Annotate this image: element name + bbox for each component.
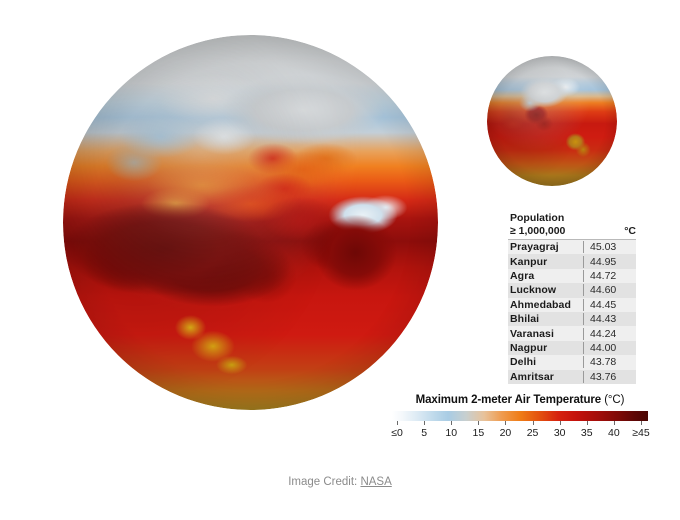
legend-tick [614, 421, 615, 425]
table-row: Bhilai44.43 [508, 312, 636, 326]
table-cell-city: Nagpur [508, 342, 583, 354]
legend-tick [397, 421, 398, 425]
legend-tick [451, 421, 452, 425]
legend-tick-label: 25 [527, 427, 539, 439]
legend-tick-label: 15 [472, 427, 484, 439]
table-cell-temperature: 44.95 [583, 256, 636, 268]
table-cell-city: Ahmedabad [508, 299, 583, 311]
table-body: Prayagraj45.03Kanpur44.95Agra44.72Luckno… [508, 239, 636, 384]
legend-tick [424, 421, 425, 425]
legend-title-text: Maximum 2-meter Air Temperature [416, 394, 601, 406]
table-cell-city: Varanasi [508, 328, 583, 340]
legend-tick-label: 30 [554, 427, 566, 439]
table-cell-temperature: 44.00 [583, 342, 636, 354]
legend-tick [587, 421, 588, 425]
table-row: Varanasi44.24 [508, 326, 636, 340]
table-cell-temperature: 44.72 [583, 270, 636, 282]
table-row: Lucknow44.60 [508, 283, 636, 297]
legend-tick-label: 10 [445, 427, 457, 439]
legend-tick-label: 40 [608, 427, 620, 439]
legend-tick-label: ≥45 [632, 427, 649, 439]
earth-globe-eastern-hemisphere [63, 35, 438, 410]
table-cell-temperature: 44.43 [583, 313, 636, 325]
table-row: Nagpur44.00 [508, 341, 636, 355]
legend-title: Maximum 2-meter Air Temperature (°C) [392, 393, 648, 408]
table-cell-temperature: 44.60 [583, 284, 636, 296]
table-cell-temperature: 43.78 [583, 356, 636, 368]
table-cell-temperature: 45.03 [583, 241, 636, 253]
legend-tick-labels: ≤0510152025303540≥45 [392, 427, 648, 441]
legend-unit: (°C) [604, 394, 624, 406]
legend-tick [560, 421, 561, 425]
table-cell-temperature: 44.45 [583, 299, 636, 311]
table-header-population: Population [510, 212, 636, 225]
legend-tick-label: 35 [581, 427, 593, 439]
city-temperature-table: Population ≥ 1,000,000 °C Prayagraj45.03… [508, 212, 636, 384]
legend-tick-label: 20 [500, 427, 512, 439]
table-row: Kanpur44.95 [508, 254, 636, 268]
visualization-canvas: Population ≥ 1,000,000 °C Prayagraj45.03… [0, 0, 680, 520]
legend-tick-label: 5 [421, 427, 427, 439]
table-header: Population ≥ 1,000,000 °C [508, 212, 636, 239]
table-cell-temperature: 43.76 [583, 371, 636, 383]
legend-tick [641, 421, 642, 425]
legend-tick [505, 421, 506, 425]
table-cell-city: Agra [508, 270, 583, 282]
legend-colorbar [392, 411, 648, 421]
table-cell-city: Lucknow [508, 284, 583, 296]
globe-sphere-shading [63, 35, 438, 410]
table-header-threshold: ≥ 1,000,000 [510, 225, 565, 238]
table-row: Amritsar43.76 [508, 370, 636, 384]
table-cell-city: Amritsar [508, 371, 583, 383]
table-row: Ahmedabad44.45 [508, 298, 636, 312]
table-header-unit: °C [624, 225, 636, 238]
table-cell-temperature: 44.24 [583, 328, 636, 340]
legend-tick [478, 421, 479, 425]
earth-globe-western-hemisphere [487, 56, 617, 186]
table-row: Agra44.72 [508, 269, 636, 283]
table-cell-city: Delhi [508, 356, 583, 368]
legend-tick [533, 421, 534, 425]
table-cell-city: Bhilai [508, 313, 583, 325]
table-cell-city: Prayagraj [508, 241, 583, 253]
nasa-link[interactable]: NASA [360, 476, 391, 488]
legend-tick-marks [392, 421, 648, 426]
table-row: Delhi43.78 [508, 355, 636, 369]
legend-tick-label: ≤0 [391, 427, 403, 439]
table-cell-city: Kanpur [508, 256, 583, 268]
image-credit: Image Credit: NASA [0, 476, 680, 488]
temperature-legend: Maximum 2-meter Air Temperature (°C) ≤05… [392, 393, 648, 441]
image-credit-prefix: Image Credit: [288, 476, 357, 488]
table-row: Prayagraj45.03 [508, 240, 636, 254]
globe-small-sphere-shading [487, 56, 617, 186]
